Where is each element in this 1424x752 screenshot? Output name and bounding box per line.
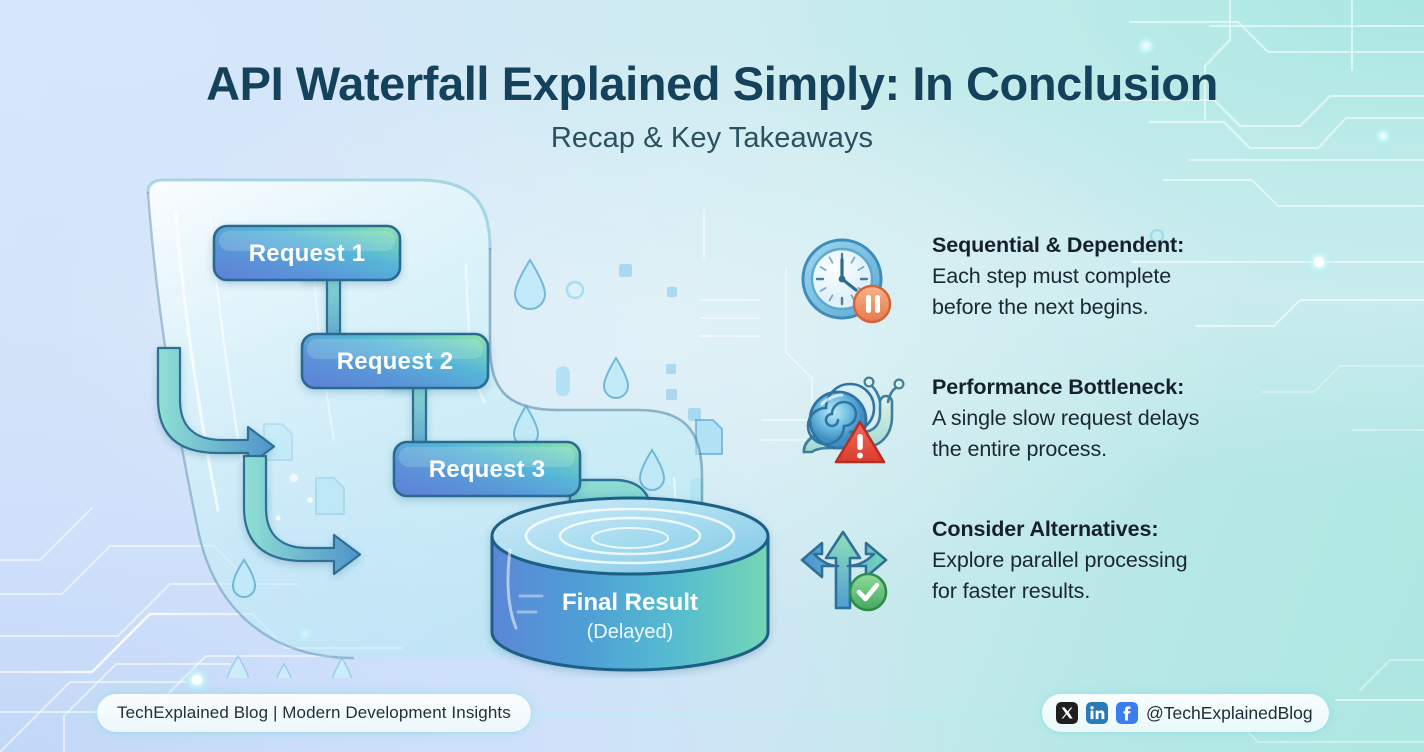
snail-warning-icon	[796, 376, 908, 472]
takeaway-item-sequential: Sequential & Dependent: Each step must c…	[796, 232, 1356, 336]
page-title: API Waterfall Explained Simply: In Concl…	[0, 58, 1424, 111]
takeaway-body-line1: Explore parallel processing	[932, 545, 1356, 576]
branching-arrows-check-icon	[796, 518, 908, 614]
takeaway-heading: Sequential & Dependent:	[932, 232, 1356, 260]
step-label-3: Request 3	[429, 456, 546, 483]
page-subtitle: Recap & Key Takeaways	[0, 122, 1424, 155]
final-result-pool	[492, 498, 768, 670]
footer-social-pill: @TechExplainedBlog	[1042, 694, 1329, 732]
takeaway-body-line2: before the next begins.	[932, 292, 1356, 323]
key-takeaways-list: Sequential & Dependent: Each step must c…	[796, 232, 1356, 620]
takeaway-heading: Performance Bottleneck:	[932, 374, 1356, 402]
takeaway-body-line1: A single slow request delays	[932, 403, 1356, 434]
linkedin-icon[interactable]	[1086, 702, 1108, 724]
final-result-sublabel: (Delayed)	[587, 621, 674, 643]
step-label-1: Request 1	[249, 240, 366, 267]
takeaway-item-alternatives: Consider Alternatives: Explore parallel …	[796, 516, 1356, 620]
api-waterfall-diagram: Request 1 Request 2 Request 3 Final Resu…	[118, 178, 818, 678]
takeaway-heading: Consider Alternatives:	[932, 516, 1356, 544]
step-label-2: Request 2	[337, 348, 454, 375]
takeaway-body-line2: the entire process.	[932, 434, 1356, 465]
clock-pause-icon	[796, 234, 908, 330]
final-result-label: Final Result	[562, 589, 698, 616]
footer-brand-pill: TechExplained Blog | Modern Development …	[97, 694, 531, 732]
x-icon[interactable]	[1056, 702, 1078, 724]
takeaway-item-bottleneck: Performance Bottleneck: A single slow re…	[796, 374, 1356, 478]
infographic-canvas: API Waterfall Explained Simply: In Concl…	[0, 0, 1424, 752]
footer-handle-text: @TechExplainedBlog	[1146, 703, 1313, 724]
facebook-icon[interactable]	[1116, 702, 1138, 724]
takeaway-body-line2: for faster results.	[932, 576, 1356, 607]
footer-brand-text: TechExplained Blog | Modern Development …	[117, 703, 511, 723]
takeaway-body-line1: Each step must complete	[932, 261, 1356, 292]
header: API Waterfall Explained Simply: In Concl…	[0, 58, 1424, 155]
